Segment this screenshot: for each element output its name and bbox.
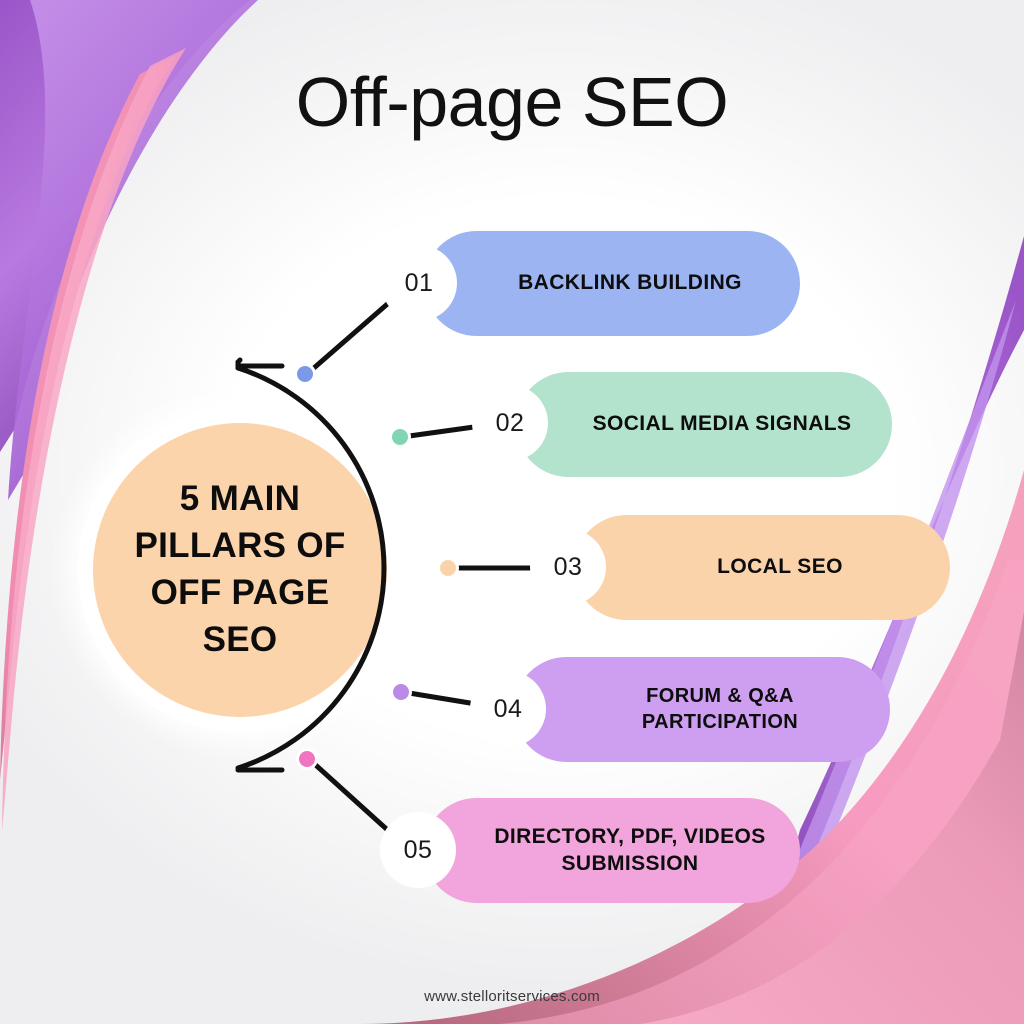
spoke-2 [402,427,474,437]
infographic-canvas: Off-page SEO 5 MAIN PILLARS OF OFF PAGE … [0,0,1024,1024]
pill-item-5-label: DIRECTORY, PDF, VIDEOS SUBMISSION [440,824,783,878]
number-badge-5[interactable]: 05 [380,812,456,888]
pill-item-4-label: FORUM & Q&A PARTICIPATION [514,684,890,735]
number-badge-1[interactable]: 01 [381,245,457,321]
arc-dot-2-ring [389,426,411,448]
pill-item-3[interactable]: LOCAL SEO [574,515,950,620]
number-badge-4-label: 04 [494,695,523,724]
arc-dot-5-ring [296,748,318,770]
number-badge-3[interactable]: 03 [530,529,606,605]
spoke-5 [309,759,392,834]
arc-dot-4-ring [390,681,412,703]
pill-item-1-label: BACKLINK BUILDING [464,270,760,297]
number-badge-4[interactable]: 04 [470,671,546,747]
arc-dot-3-ring [437,557,459,579]
number-badge-2[interactable]: 02 [472,385,548,461]
arc-dot-1-ring [294,363,316,385]
spoke-4 [403,692,476,704]
number-badge-1-label: 01 [405,269,434,298]
arc-dot-3 [440,560,456,576]
pill-item-3-label: LOCAL SEO [663,554,861,581]
pill-item-4[interactable]: FORUM & Q&A PARTICIPATION [514,657,890,762]
page-title: Off-page SEO [0,62,1024,142]
number-badge-5-label: 05 [404,836,433,865]
arc-dot-5 [299,751,315,767]
arc-tail-top [238,360,240,368]
center-circle-label: 5 MAIN PILLARS OF OFF PAGE SEO [134,476,345,664]
pill-item-2[interactable]: SOCIAL MEDIA SIGNALS [516,372,892,477]
number-badge-3-label: 03 [554,553,583,582]
pill-item-2-label: SOCIAL MEDIA SIGNALS [539,411,870,438]
pill-item-5[interactable]: DIRECTORY, PDF, VIDEOS SUBMISSION [424,798,800,903]
number-badge-2-label: 02 [496,409,525,438]
arc-dot-4 [393,684,409,700]
arc-dot-2 [392,429,408,445]
spoke-1 [307,300,392,374]
center-circle: 5 MAIN PILLARS OF OFF PAGE SEO [93,423,387,717]
arc-dot-1 [297,366,313,382]
pill-item-1[interactable]: BACKLINK BUILDING [424,231,800,336]
footer-url: www.stelloritservices.com [0,988,1024,1005]
